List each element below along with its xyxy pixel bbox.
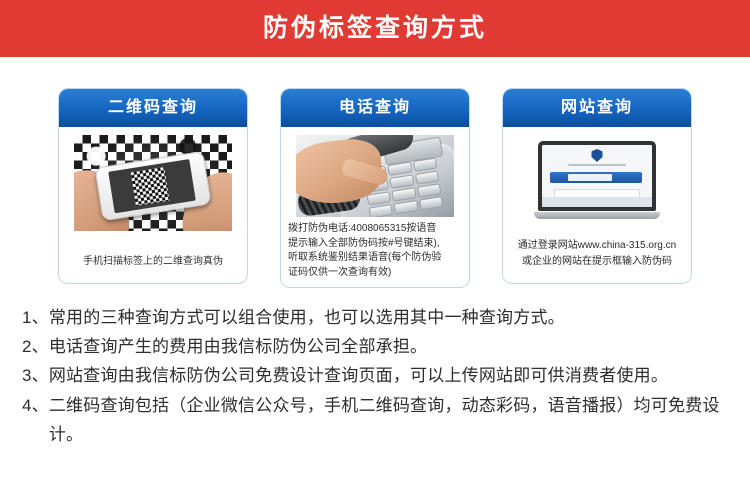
note-number: 4、: [22, 391, 49, 420]
promo-page: 防伪标签查询方式 二维码查询 手机扫描标签上的二维查询真: [0, 0, 750, 482]
card-header-telephone-query: 电话查询: [281, 89, 469, 127]
notes-list: 1、 常用的三种查询方式可以组合使用，也可以选用其中一种查询方式。 2、 电话查…: [0, 303, 750, 449]
site-input-field: [568, 174, 612, 181]
note-text: 电话查询产生的费用由我信标防伪公司全部承担。: [49, 332, 728, 361]
card-caption-website-query: 通过登录网站www.china-315.org.cn 或企业的网站在提示框输入防…: [510, 232, 684, 277]
card-header-website-query: 网站查询: [503, 89, 691, 127]
laptop-screen: [542, 145, 652, 207]
note-number: 2、: [22, 332, 49, 361]
caption-line: 证码仅供一次查询有效): [288, 266, 462, 281]
hand-dialing-desk-phone-photo: [296, 135, 454, 217]
site-nav-line: [568, 164, 626, 166]
page-title: 防伪标签查询方式: [263, 16, 487, 41]
card-body-qr-code-query: 手机扫描标签上的二维查询真伪: [59, 127, 247, 283]
laptop-lid: [538, 141, 656, 211]
card-title-website-query: 网站查询: [561, 100, 633, 116]
note-text: 网站查询由我信标防伪公司免费设计查询页面，可以上传网站即可供消费者使用。: [49, 361, 728, 390]
caption-line: 或企业的网站在提示框输入防伪码: [510, 254, 684, 270]
card-header-qr-code-query: 二维码查询: [59, 89, 247, 127]
query-method-cards: 二维码查询 手机扫描标签上的二维查询真伪 电话查询: [0, 88, 750, 288]
laptop-base: [534, 212, 660, 219]
card-caption-qr-code-query: 手机扫描标签上的二维查询真伪: [66, 248, 240, 277]
caption-line: 拨打防伪电话:4008065315按语音: [288, 222, 462, 237]
phone-screen: [108, 159, 196, 213]
note-number: 1、: [22, 303, 49, 332]
note-item: 4、 二维码查询包括（企业微信公众号，手机二维码查询，动态彩码，语音播报）均可免…: [22, 391, 728, 449]
card-title-telephone-query: 电话查询: [339, 100, 411, 116]
caption-line: 提示输入全部防伪码按#号键结束),: [288, 237, 462, 252]
laptop-shape: [534, 141, 660, 219]
card-body-website-query: 通过登录网站www.china-315.org.cn 或企业的网站在提示框输入防…: [503, 127, 691, 283]
note-item: 3、 网站查询由我信标防伪公司免费设计查询页面，可以上传网站即可供消费者使用。: [22, 361, 728, 390]
card-caption-telephone-query: 拨打防伪电话:4008065315按语音 提示输入全部防伪码按#号键结束), 听…: [286, 217, 464, 283]
site-footer: [542, 197, 652, 207]
card-body-telephone-query: 拨打防伪电话:4008065315按语音 提示输入全部防伪码按#号键结束), 听…: [281, 127, 469, 288]
note-text: 二维码查询包括（企业微信公众号，手机二维码查询，动态彩码，语音播报）均可免费设计…: [49, 391, 728, 449]
laptop-showing-verification-website-photo: [521, 135, 673, 225]
caption-line: 听取系统鉴别结果语音(每个防伪验: [288, 251, 462, 266]
note-number: 3、: [22, 361, 49, 390]
page-banner: 防伪标签查询方式: [0, 0, 750, 57]
caption-line: 通过登录网站www.china-315.org.cn: [510, 238, 684, 254]
note-item: 1、 常用的三种查询方式可以组合使用，也可以选用其中一种查询方式。: [22, 303, 728, 332]
note-item: 2、 电话查询产生的费用由我信标防伪公司全部承担。: [22, 332, 728, 361]
card-website-query: 网站查询: [502, 88, 692, 284]
scanned-qr-icon: [131, 167, 170, 206]
card-telephone-query: 电话查询: [280, 88, 470, 288]
shield-icon: [592, 149, 603, 162]
card-qr-code-query: 二维码查询 手机扫描标签上的二维查询真伪: [58, 88, 248, 284]
note-text: 常用的三种查询方式可以组合使用，也可以选用其中一种查询方式。: [49, 303, 728, 332]
phone-scanning-qr-code-photo: [74, 135, 232, 231]
card-title-qr-code-query: 二维码查询: [108, 100, 198, 116]
